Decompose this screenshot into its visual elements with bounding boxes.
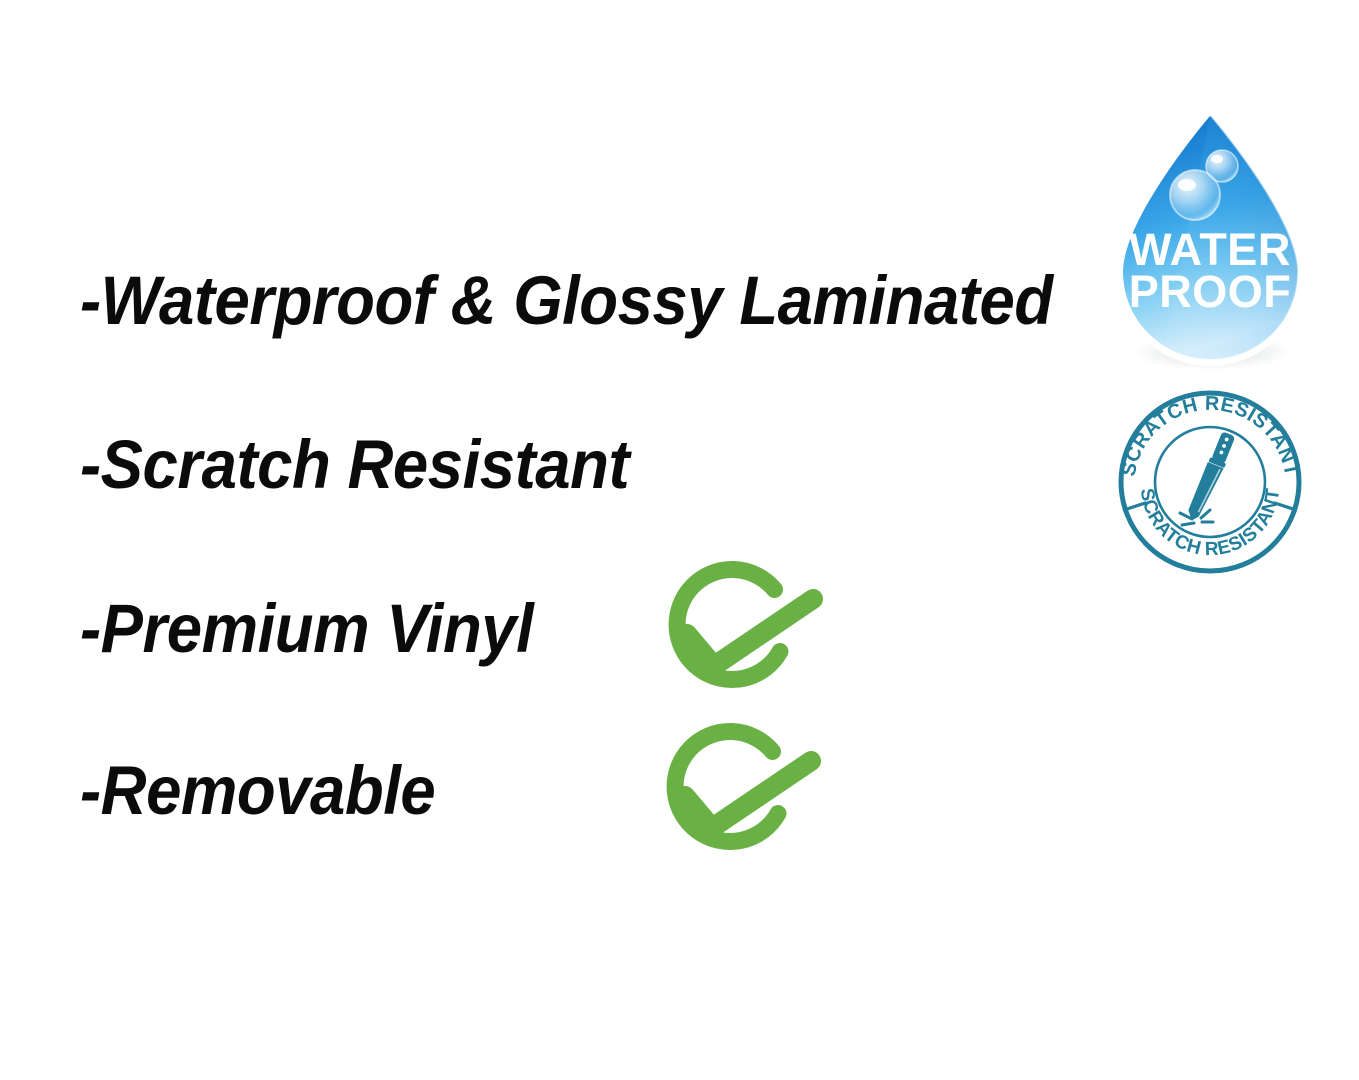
waterproof-droplet-badge: WATER PROOF bbox=[1098, 100, 1322, 372]
waterproof-label-line2: PROOF bbox=[1129, 266, 1292, 317]
check-mark-removable bbox=[638, 716, 838, 881]
feature-item-scratch-resistant: -Scratch Resistant bbox=[80, 430, 629, 499]
stamp-text-bottom-path: SCRATCH RESISTANT bbox=[1136, 487, 1284, 560]
feature-item-removable: -Removable bbox=[80, 756, 435, 825]
check-mark-premium-vinyl bbox=[640, 556, 840, 716]
water-bubble-large bbox=[1170, 170, 1220, 220]
feature-item-waterproof-glossy-laminated: -Waterproof & Glossy Laminated bbox=[80, 266, 1053, 335]
feature-item-premium-vinyl: -Premium Vinyl bbox=[80, 594, 533, 663]
stamp-text-bottom: SCRATCH RESISTANT bbox=[1136, 487, 1284, 560]
feature-list: -Waterproof & Glossy Laminated -Scratch … bbox=[0, 0, 1100, 1080]
scratch-resistant-stamp-badge: SCRATCH RESISTANT SCRATCH RESISTANT bbox=[1112, 386, 1308, 574]
product-feature-graphic: -Waterproof & Glossy Laminated -Scratch … bbox=[0, 0, 1359, 1080]
